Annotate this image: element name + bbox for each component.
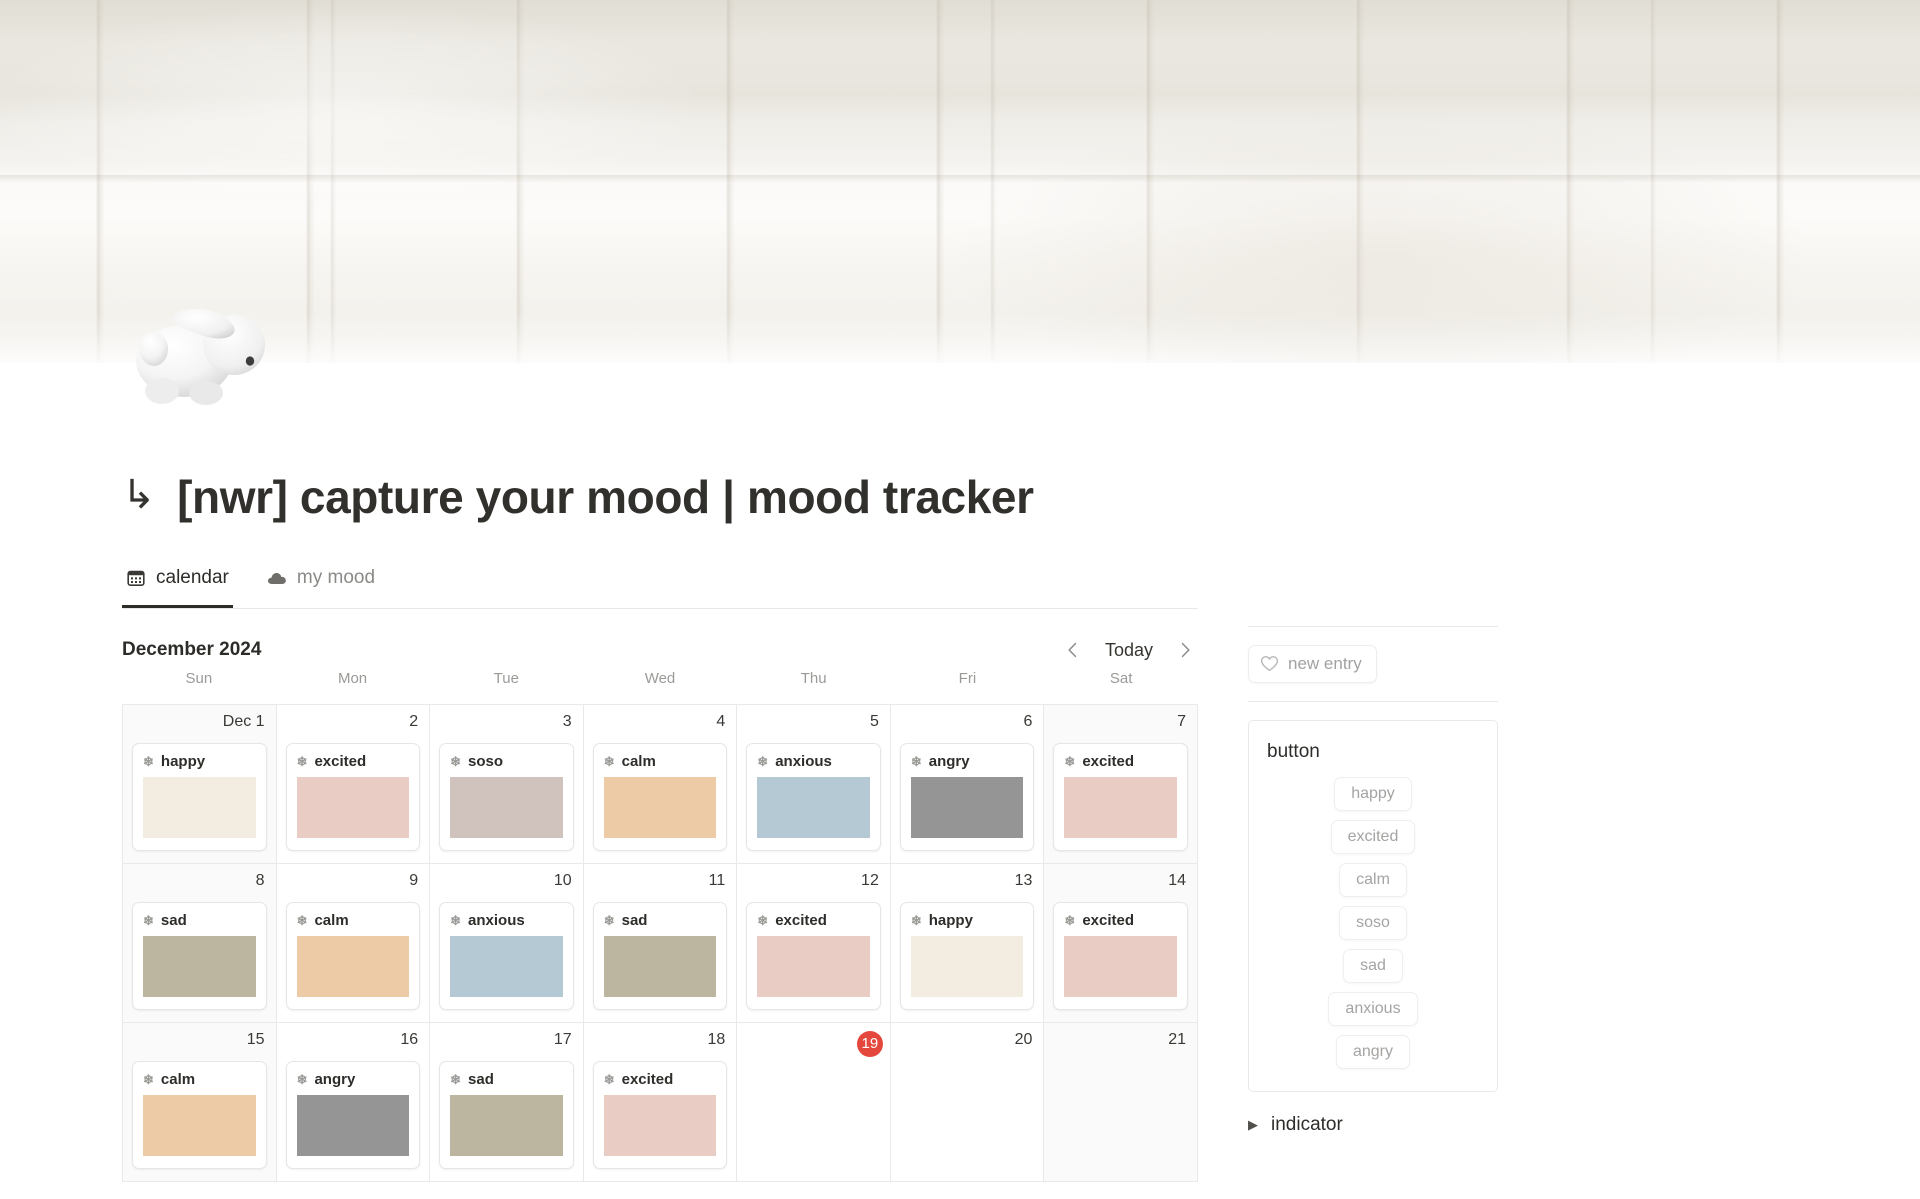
day-number: 8 (254, 872, 267, 890)
mood-entry-title: ❄calm (287, 903, 420, 936)
cover-shadow-line (0, 175, 1920, 183)
day-number: Dec 1 (221, 713, 267, 731)
day-number-row: 10 (439, 872, 574, 898)
indicator-toggle[interactable]: ▶ indicator (1248, 1114, 1498, 1136)
mood-button-sad[interactable]: sad (1343, 949, 1403, 983)
day-number-row: 16 (286, 1031, 421, 1057)
asterisk-icon: ❄ (450, 755, 461, 768)
mood-entry-label: calm (622, 753, 656, 770)
mood-entry-label: sad (622, 912, 648, 929)
calendar-day-cell[interactable]: 21 (1044, 1023, 1198, 1182)
day-number: 5 (868, 713, 881, 731)
calendar-day-cell[interactable]: 7❄excited (1044, 705, 1198, 864)
day-number-row: 14 (1053, 872, 1188, 898)
calendar-day-cell[interactable]: 14❄excited (1044, 864, 1198, 1023)
mood-entry-card[interactable]: ❄sad (439, 1061, 574, 1169)
mood-entry-card[interactable]: ❄angry (900, 743, 1035, 851)
mood-entry-title: ❄angry (901, 744, 1034, 777)
weekday-label-mon: Mon (276, 670, 430, 704)
mood-entry-card[interactable]: ❄sad (593, 902, 728, 1010)
mood-color-swatch (604, 777, 717, 838)
calendar-day-cell[interactable]: 13❄happy (891, 864, 1045, 1023)
calendar-icon (126, 568, 146, 588)
day-number-row: 13 (900, 872, 1035, 898)
asterisk-icon: ❄ (143, 914, 154, 927)
asterisk-icon: ❄ (757, 914, 768, 927)
asterisk-icon: ❄ (911, 914, 922, 927)
mood-button-list: happyexcitedcalmsososadanxiousangry (1267, 777, 1479, 1069)
mood-entry-title: ❄excited (594, 1062, 727, 1095)
day-number: 20 (1013, 1031, 1035, 1049)
mood-entry-card[interactable]: ❄happy (900, 902, 1035, 1010)
main-layout: December 2024 Today SunMonTueWedThuFriSa… (122, 608, 1798, 1182)
mood-entry-card[interactable]: ❄calm (132, 1061, 267, 1169)
calendar-day-cell[interactable]: 19 (737, 1023, 891, 1182)
calendar-day-cell[interactable]: 5❄anxious (737, 705, 891, 864)
mood-entry-label: excited (1082, 753, 1134, 770)
mood-entry-title: ❄calm (133, 1062, 266, 1095)
mood-entry-label: calm (161, 1071, 195, 1088)
mood-entry-title: ❄excited (287, 744, 420, 777)
mood-entry-label: excited (775, 912, 827, 929)
sidebar-column: new entry button happyexcitedcalmsososad… (1248, 608, 1498, 1136)
calendar-day-cell[interactable]: 3❄soso (430, 705, 584, 864)
day-number-row: 17 (439, 1031, 574, 1057)
mood-color-swatch (297, 1095, 410, 1156)
mood-entry-card[interactable]: ❄calm (593, 743, 728, 851)
mood-entry-card[interactable]: ❄excited (1053, 743, 1188, 851)
mood-button-calm[interactable]: calm (1339, 863, 1407, 897)
calendar-column: December 2024 Today SunMonTueWedThuFriSa… (122, 608, 1198, 1182)
mood-entry-label: sad (161, 912, 187, 929)
asterisk-icon: ❄ (757, 755, 768, 768)
tab-bar: calendar my mood (122, 562, 1798, 608)
mood-color-swatch (143, 777, 256, 838)
calendar-day-cell[interactable]: 12❄excited (737, 864, 891, 1023)
day-number-row: 21 (1053, 1031, 1188, 1057)
mood-entry-title: ❄happy (133, 744, 266, 777)
cloud-icon (267, 568, 287, 588)
calendar-day-cell[interactable]: 16❄angry (277, 1023, 431, 1182)
mood-entry-title: ❄sad (133, 903, 266, 936)
day-number-row: 6 (900, 713, 1035, 739)
calendar-day-cell[interactable]: 4❄calm (584, 705, 738, 864)
mood-entry-title: ❄excited (1054, 744, 1187, 777)
asterisk-icon: ❄ (143, 755, 154, 768)
day-number-row: 7 (1053, 713, 1188, 739)
white-bunny-icon[interactable] (122, 287, 280, 405)
day-number-row: 3 (439, 713, 574, 739)
mood-entry-label: excited (314, 753, 366, 770)
asterisk-icon: ❄ (297, 755, 308, 768)
page-title-text: [nwr] capture your mood | mood tracker (177, 471, 1033, 524)
mood-entry-title: ❄sad (440, 1062, 573, 1095)
mood-entry-card[interactable]: ❄excited (286, 743, 421, 851)
weekday-label-sun: Sun (122, 670, 276, 704)
day-number-row: 19 (746, 1031, 881, 1057)
asterisk-icon: ❄ (297, 914, 308, 927)
tab-calendar[interactable]: calendar (122, 562, 233, 608)
calendar-day-cell[interactable]: 11❄sad (584, 864, 738, 1023)
mood-entry-title: ❄angry (287, 1062, 420, 1095)
day-number: 10 (552, 872, 574, 890)
day-number: 2 (407, 713, 420, 731)
mood-entry-label: soso (468, 753, 503, 770)
indicator-label: indicator (1271, 1114, 1343, 1136)
mood-entry-title: ❄sad (594, 903, 727, 936)
mood-color-swatch (911, 936, 1024, 997)
day-number: 3 (561, 713, 574, 731)
mood-entry-card[interactable]: ❄anxious (439, 902, 574, 1010)
calendar-week-row: 15❄calm16❄angry17❄sad18❄excited192021 (123, 1023, 1198, 1182)
mood-entry-label: anxious (775, 753, 832, 770)
calendar-day-cell[interactable]: 8❄sad (123, 864, 277, 1023)
mood-button-anxious[interactable]: anxious (1328, 992, 1417, 1026)
mood-entry-card[interactable]: ❄anxious (746, 743, 881, 851)
asterisk-icon: ❄ (604, 914, 615, 927)
mood-entry-label: sad (468, 1071, 494, 1088)
mood-entry-title: ❄excited (747, 903, 880, 936)
mood-color-swatch (450, 936, 563, 997)
mood-entry-title: ❄happy (901, 903, 1034, 936)
day-number-row: 5 (746, 713, 881, 739)
next-month-button[interactable] (1172, 637, 1198, 663)
mood-entry-label: happy (161, 753, 205, 770)
asterisk-icon: ❄ (911, 755, 922, 768)
day-number: 21 (1166, 1031, 1188, 1049)
calendar-nav: Today (1060, 637, 1198, 664)
calendar-header: December 2024 Today (122, 608, 1198, 670)
day-number-row: 9 (286, 872, 421, 898)
mood-color-swatch (604, 936, 717, 997)
page-cover (0, 0, 1920, 363)
asterisk-icon: ❄ (1064, 914, 1075, 927)
sidebar-divider-bottom (1248, 701, 1498, 702)
asterisk-icon: ❄ (143, 1073, 154, 1086)
asterisk-icon: ❄ (1064, 755, 1075, 768)
mood-entry-title: ❄excited (1054, 903, 1187, 936)
prev-month-button[interactable] (1060, 637, 1086, 663)
asterisk-icon: ❄ (297, 1073, 308, 1086)
button-panel: button happyexcitedcalmsososadanxiousang… (1248, 720, 1498, 1092)
mood-entry-label: excited (622, 1071, 674, 1088)
day-number: 9 (407, 872, 420, 890)
day-number-row: 4 (593, 713, 728, 739)
triangle-right-icon: ▶ (1248, 1117, 1258, 1133)
calendar-grid: Dec 1❄happy2❄excited3❄soso4❄calm5❄anxiou… (122, 704, 1198, 1182)
day-number: 6 (1022, 713, 1035, 731)
calendar-day-cell[interactable]: 17❄sad (430, 1023, 584, 1182)
new-entry-label: new entry (1288, 654, 1362, 674)
mood-entry-card[interactable]: ❄calm (286, 902, 421, 1010)
mood-button-soso[interactable]: soso (1339, 906, 1407, 940)
new-entry-button[interactable]: new entry (1248, 645, 1377, 683)
day-number-row: 15 (132, 1031, 267, 1057)
mood-color-swatch (297, 936, 410, 997)
day-number: 13 (1013, 872, 1035, 890)
tab-calendar-label: calendar (156, 567, 229, 589)
today-button[interactable]: Today (1096, 637, 1162, 664)
day-number-row: 11 (593, 872, 728, 898)
day-number-row: 18 (593, 1031, 728, 1057)
mood-color-swatch (757, 777, 870, 838)
calendar-month-label: December 2024 (122, 639, 261, 661)
mood-entry-card[interactable]: ❄happy (132, 743, 267, 851)
day-number: 7 (1175, 713, 1188, 731)
day-number-row: 20 (900, 1031, 1035, 1057)
day-number-row: 12 (746, 872, 881, 898)
sidebar-divider-top (1248, 626, 1498, 627)
mood-entry-label: excited (1082, 912, 1134, 929)
calendar-day-cell[interactable]: 20 (891, 1023, 1045, 1182)
button-panel-title: button (1267, 741, 1479, 763)
mood-entry-title: ❄anxious (747, 744, 880, 777)
mood-color-swatch (1064, 777, 1177, 838)
day-number: 12 (859, 872, 881, 890)
day-number: 15 (245, 1031, 267, 1049)
calendar-day-cell[interactable]: 9❄calm (277, 864, 431, 1023)
mood-color-swatch (143, 936, 256, 997)
mood-color-swatch (604, 1095, 717, 1156)
mood-entry-label: angry (929, 753, 970, 770)
day-number-row: 2 (286, 713, 421, 739)
day-number-row: 8 (132, 872, 267, 898)
weekday-label-tue: Tue (429, 670, 583, 704)
calendar-day-cell[interactable]: 15❄calm (123, 1023, 277, 1182)
mood-color-swatch (450, 777, 563, 838)
asterisk-icon: ❄ (604, 1073, 615, 1086)
calendar-week-row: 8❄sad9❄calm10❄anxious11❄sad12❄excited13❄… (123, 864, 1198, 1023)
calendar-day-cell[interactable]: 6❄angry (891, 705, 1045, 864)
weekday-label-wed: Wed (583, 670, 737, 704)
mood-entry-card[interactable]: ❄angry (286, 1061, 421, 1169)
tab-my-mood[interactable]: my mood (263, 562, 379, 608)
mood-color-swatch (1064, 936, 1177, 997)
asterisk-icon: ❄ (604, 755, 615, 768)
calendar-day-cell[interactable]: 10❄anxious (430, 864, 584, 1023)
today-date-badge: 19 (857, 1031, 883, 1057)
title-arrow-icon: ↳ (122, 472, 155, 518)
mood-entry-card[interactable]: ❄excited (593, 1061, 728, 1169)
mood-color-swatch (297, 777, 410, 838)
mood-button-angry[interactable]: angry (1336, 1035, 1410, 1069)
page-title: ↳ [nwr] capture your mood | mood tracker (122, 363, 1798, 524)
mood-entry-label: anxious (468, 912, 525, 929)
mood-entry-label: calm (314, 912, 348, 929)
calendar-weekday-row: SunMonTueWedThuFriSat (122, 670, 1198, 704)
calendar-day-cell[interactable]: 18❄excited (584, 1023, 738, 1182)
asterisk-icon: ❄ (450, 1073, 461, 1086)
mood-color-swatch (450, 1095, 563, 1156)
weekday-label-fri: Fri (891, 670, 1045, 704)
mood-entry-title: ❄anxious (440, 903, 573, 936)
day-number: 11 (707, 872, 728, 890)
mood-entry-label: angry (314, 1071, 355, 1088)
calendar-week-row: Dec 1❄happy2❄excited3❄soso4❄calm5❄anxiou… (123, 705, 1198, 864)
weekday-label-sat: Sat (1044, 670, 1198, 704)
mood-entry-label: happy (929, 912, 973, 929)
day-number: 18 (705, 1031, 727, 1049)
mood-entry-title: ❄soso (440, 744, 573, 777)
mood-entry-card[interactable]: ❄excited (746, 902, 881, 1010)
mood-entry-card[interactable]: ❄sad (132, 902, 267, 1010)
calendar-day-cell[interactable]: Dec 1❄happy (123, 705, 277, 864)
calendar-day-cell[interactable]: 2❄excited (277, 705, 431, 864)
mood-button-excited[interactable]: excited (1331, 820, 1416, 854)
mood-button-happy[interactable]: happy (1334, 777, 1412, 811)
day-number: 4 (714, 713, 727, 731)
day-number-row: Dec 1 (132, 713, 267, 739)
day-number: 16 (398, 1031, 420, 1049)
mood-color-swatch (143, 1095, 256, 1156)
heart-icon (1260, 655, 1279, 672)
day-number: 17 (552, 1031, 574, 1049)
day-number: 14 (1166, 872, 1188, 890)
mood-color-swatch (757, 936, 870, 997)
mood-entry-card[interactable]: ❄soso (439, 743, 574, 851)
mood-entry-card[interactable]: ❄excited (1053, 902, 1188, 1010)
mood-color-swatch (911, 777, 1024, 838)
weekday-label-thu: Thu (737, 670, 891, 704)
asterisk-icon: ❄ (450, 914, 461, 927)
tab-my-mood-label: my mood (297, 567, 375, 589)
mood-entry-title: ❄calm (594, 744, 727, 777)
